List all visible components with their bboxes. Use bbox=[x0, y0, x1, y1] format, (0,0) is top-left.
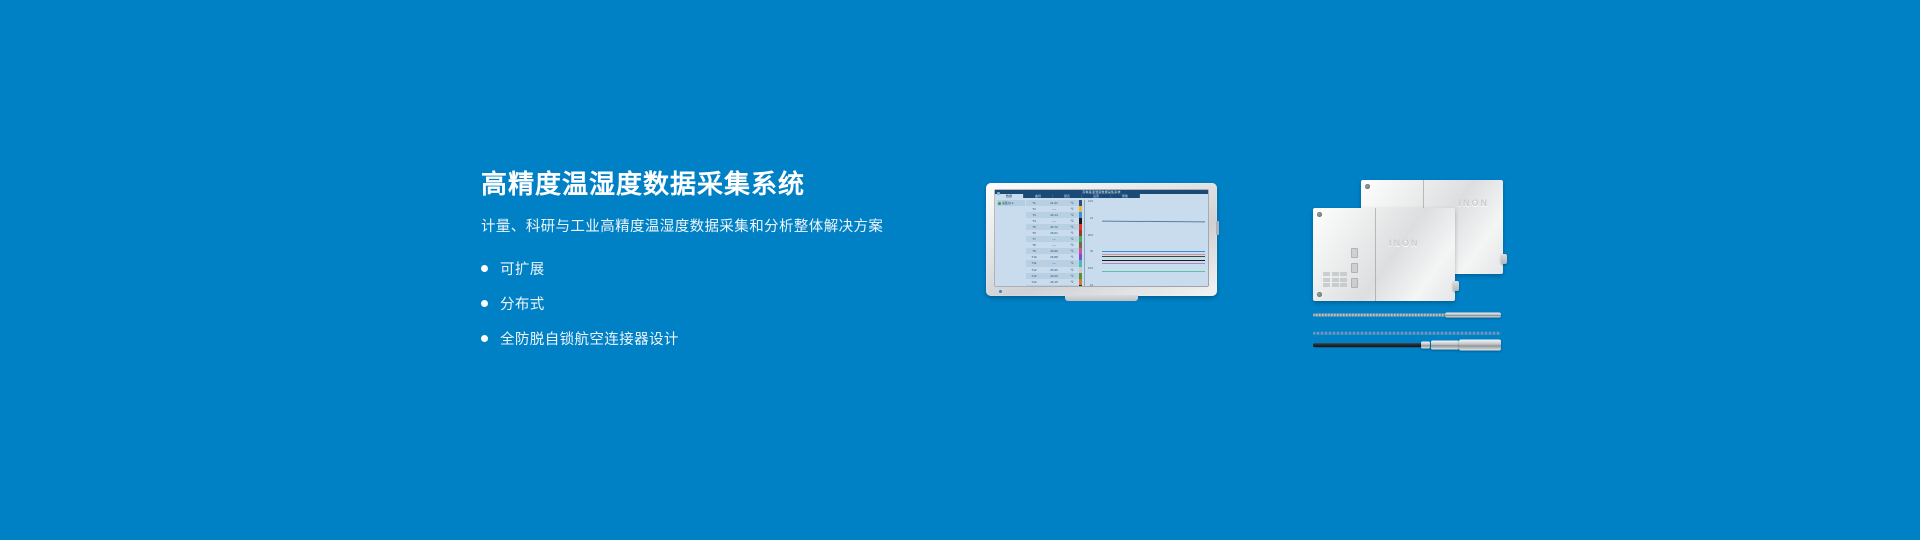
blue-cable bbox=[1313, 332, 1501, 335]
value-cell: 26.20 bbox=[1042, 274, 1066, 278]
software-titlebar: 高精度温湿度数据采集系统 bbox=[995, 190, 1208, 194]
value-cell: 26.14 bbox=[1042, 213, 1066, 217]
channel-cell: T11 bbox=[1026, 261, 1042, 265]
bullet-icon bbox=[481, 300, 488, 307]
channel-cell: T4 bbox=[1026, 219, 1042, 223]
monitor-foot bbox=[1065, 295, 1139, 301]
value-cell: ---- bbox=[1042, 237, 1066, 241]
chart-trace bbox=[1102, 251, 1205, 252]
value-cell: ---- bbox=[1042, 207, 1066, 211]
feature-label: 可扩展 bbox=[500, 258, 545, 279]
channel-cell: T7 bbox=[1026, 237, 1042, 241]
module-label-grid bbox=[1323, 272, 1347, 287]
acquisition-module-product-image: INON INON bbox=[1313, 180, 1503, 310]
monitor-side-port bbox=[1216, 221, 1219, 235]
chart-trace bbox=[1102, 263, 1205, 264]
feature-label: 全防脱自锁航空连接器设计 bbox=[500, 328, 679, 349]
brand-logo: INON bbox=[1459, 198, 1490, 208]
value-cell: 26.15 bbox=[1042, 280, 1066, 284]
channel-cell: T8 bbox=[1026, 243, 1042, 247]
y-tick-label: 20.5 bbox=[1088, 234, 1093, 237]
channel-table: T121.01℃T2----℃T326.14℃T4----℃T526.72℃T6… bbox=[1026, 200, 1079, 286]
unit-cell: ℃ bbox=[1066, 231, 1078, 235]
unit-cell: ℃ bbox=[1066, 225, 1078, 229]
chart-trace bbox=[1102, 220, 1205, 221]
connector-housing bbox=[1459, 340, 1501, 351]
screw-icon bbox=[1317, 212, 1322, 217]
y-tick-label: 19 bbox=[1090, 284, 1093, 286]
chart-trace bbox=[1102, 254, 1205, 255]
unit-cell: ℃ bbox=[1066, 255, 1078, 259]
device-panel: 采集仪-1 bbox=[997, 200, 1025, 286]
channel-cell: T2 bbox=[1026, 207, 1042, 211]
unit-cell: ℃ bbox=[1066, 268, 1078, 272]
channel-cell: T10 bbox=[1026, 255, 1042, 259]
connector-shell bbox=[1431, 341, 1459, 350]
chart-plot-area bbox=[1095, 202, 1205, 286]
list-item: 可扩展 bbox=[481, 256, 901, 282]
unit-cell: ℃ bbox=[1066, 219, 1078, 223]
unit-cell: ℃ bbox=[1066, 280, 1078, 284]
page-subtitle: 计量、科研与工业高精度温湿度数据采集和分析整体解决方案 bbox=[481, 215, 901, 236]
y-tick-label: 21.5 bbox=[1088, 200, 1093, 203]
value-cell: 21.01 bbox=[1042, 201, 1066, 205]
unit-cell: ℃ bbox=[1066, 213, 1078, 217]
sensor-probe-product-image bbox=[1313, 310, 1503, 370]
list-item bbox=[1313, 328, 1503, 338]
monitor-inner-bezel: 高精度温湿度数据采集系统 数据 曲线 报表 设置 帮助 采集仪-1 bbox=[994, 189, 1209, 287]
y-tick-label: 20 bbox=[1090, 250, 1093, 253]
software-window-title: 高精度温湿度数据采集系统 bbox=[1082, 190, 1120, 194]
window-icon bbox=[997, 192, 1000, 195]
channel-cell: T12 bbox=[1026, 268, 1042, 272]
channel-cell: T13 bbox=[1026, 274, 1042, 278]
legend-color-swatch bbox=[1079, 285, 1082, 286]
table-row[interactable]: T1526.90℃ bbox=[1026, 285, 1079, 286]
connector-neck bbox=[1421, 342, 1430, 349]
value-cell: 26.88 bbox=[1042, 255, 1066, 259]
channel-cell: T1 bbox=[1026, 201, 1042, 205]
braided-cable bbox=[1313, 314, 1451, 317]
screw-icon bbox=[1365, 184, 1370, 189]
panel-display-product-image: 高精度温湿度数据采集系统 数据 曲线 报表 设置 帮助 采集仪-1 bbox=[986, 183, 1217, 296]
page-title: 高精度温湿度数据采集系统 bbox=[481, 170, 901, 200]
unit-cell: ℃ bbox=[1066, 261, 1078, 265]
software-main: 采集仪-1 T121.01℃T2----℃T326.14℃T4----℃T526… bbox=[995, 198, 1208, 286]
value-cell: ---- bbox=[1042, 219, 1066, 223]
power-led-icon bbox=[999, 290, 1002, 293]
channel-cell: T14 bbox=[1026, 280, 1042, 284]
value-cell: 25.90 bbox=[1042, 268, 1066, 272]
list-item: 分布式 bbox=[481, 291, 901, 317]
channel-cell: T5 bbox=[1026, 225, 1042, 229]
unit-cell: ℃ bbox=[1066, 243, 1078, 247]
feature-label: 分布式 bbox=[500, 293, 545, 314]
channel-cell: T3 bbox=[1026, 213, 1042, 217]
list-item bbox=[1313, 310, 1503, 320]
monitor-screen: 高精度温湿度数据采集系统 数据 曲线 报表 设置 帮助 采集仪-1 bbox=[995, 190, 1208, 286]
module-port-column bbox=[1351, 248, 1358, 288]
banner-copy: 高精度温湿度数据采集系统 计量、科研与工业高精度温湿度数据采集和分析整体解决方案… bbox=[481, 170, 901, 361]
unit-cell: ℃ bbox=[1066, 207, 1078, 211]
probe-tip bbox=[1445, 313, 1501, 318]
black-cable bbox=[1313, 343, 1423, 347]
brand-logo: INON bbox=[1389, 238, 1420, 248]
module-seam bbox=[1375, 208, 1376, 301]
value-cell: 26.72 bbox=[1042, 225, 1066, 229]
channel-color-legend bbox=[1079, 200, 1082, 286]
chart-y-axis: 21.52120.52019.519 bbox=[1085, 200, 1094, 286]
trend-chart: 21.52120.52019.519 16:20:2116:24:5816:29… bbox=[1084, 200, 1207, 286]
module-connector bbox=[1453, 281, 1459, 291]
value-cell: 26.61 bbox=[1042, 231, 1066, 235]
module-connector bbox=[1501, 254, 1507, 264]
list-item bbox=[1313, 340, 1503, 350]
unit-cell: ℃ bbox=[1066, 274, 1078, 278]
channel-cell: T6 bbox=[1026, 231, 1042, 235]
value-cell: 26.90 bbox=[1042, 249, 1066, 253]
chart-trace bbox=[1102, 260, 1205, 261]
front-module: INON bbox=[1313, 208, 1455, 301]
status-dot-icon bbox=[998, 202, 1001, 205]
unit-cell: ℃ bbox=[1066, 249, 1078, 253]
bullet-icon bbox=[481, 335, 488, 342]
chart-trace bbox=[1102, 271, 1205, 272]
device-tree-item[interactable]: 采集仪-1 bbox=[997, 200, 1025, 206]
chart-trace bbox=[1102, 256, 1205, 257]
device-label: 采集仪-1 bbox=[1002, 201, 1014, 205]
unit-cell: ℃ bbox=[1066, 237, 1078, 241]
unit-cell: ℃ bbox=[1066, 201, 1078, 205]
bullet-icon bbox=[481, 265, 488, 272]
screw-icon bbox=[1317, 292, 1322, 297]
channel-cell: T9 bbox=[1026, 249, 1042, 253]
y-tick-label: 19.5 bbox=[1088, 267, 1093, 270]
monitor-bezel: 高精度温湿度数据采集系统 数据 曲线 报表 设置 帮助 采集仪-1 bbox=[986, 183, 1217, 296]
feature-list: 可扩展 分布式 全防脱自锁航空连接器设计 bbox=[481, 256, 901, 352]
list-item: 全防脱自锁航空连接器设计 bbox=[481, 326, 901, 352]
value-cell: ---- bbox=[1042, 243, 1066, 247]
value-cell: ---- bbox=[1042, 261, 1066, 265]
y-tick-label: 21 bbox=[1090, 217, 1093, 220]
